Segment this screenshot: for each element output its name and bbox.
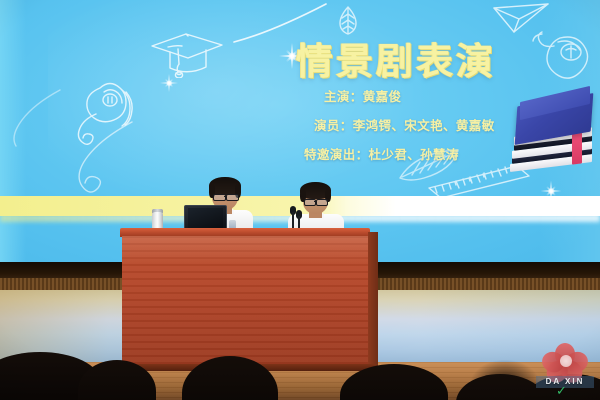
desk-right-side <box>368 232 378 366</box>
slide-title: 情景剧表演 <box>296 31 496 85</box>
desk-highlight <box>122 236 368 264</box>
presenter-desk <box>120 228 370 373</box>
eyeglasses-lens-right <box>316 199 328 206</box>
bookmark-ribbon <box>572 129 582 164</box>
slide-credits: 主演：黄嘉俊 演员：李鸿锷、宋文艳、黄嘉敏 特邀演出：杜少君、孙慧涛 <box>318 86 568 173</box>
credit-line-cast: 演员：李鸿锷、宋文艳、黄嘉敏 <box>314 115 568 134</box>
swirl-line-secondary-icon <box>0 86 64 156</box>
check-icon: ✓ <box>556 386 572 396</box>
computer-mouse-icon <box>530 26 594 82</box>
credit-line-lead: 主演：黄嘉俊 <box>324 86 568 105</box>
eyeglasses-lens-right <box>226 194 239 201</box>
swirl-line-icon <box>62 120 142 200</box>
eyeglasses-bridge <box>314 201 317 202</box>
laptop-screen <box>188 208 223 228</box>
graduation-cap-icon <box>148 30 228 78</box>
flower-logo-icon <box>542 343 588 379</box>
watermark: DA XIN ✓ <box>536 343 594 395</box>
eyeglasses-bridge <box>224 196 227 197</box>
credit-line-guests: 特邀演出：杜少君、孙慧涛 <box>304 144 568 163</box>
screenshot-root: 情景剧表演 主演：黄嘉俊 演员：李鸿锷、宋文艳、黄嘉敏 特邀演出：杜少君、孙慧涛 <box>0 0 600 400</box>
